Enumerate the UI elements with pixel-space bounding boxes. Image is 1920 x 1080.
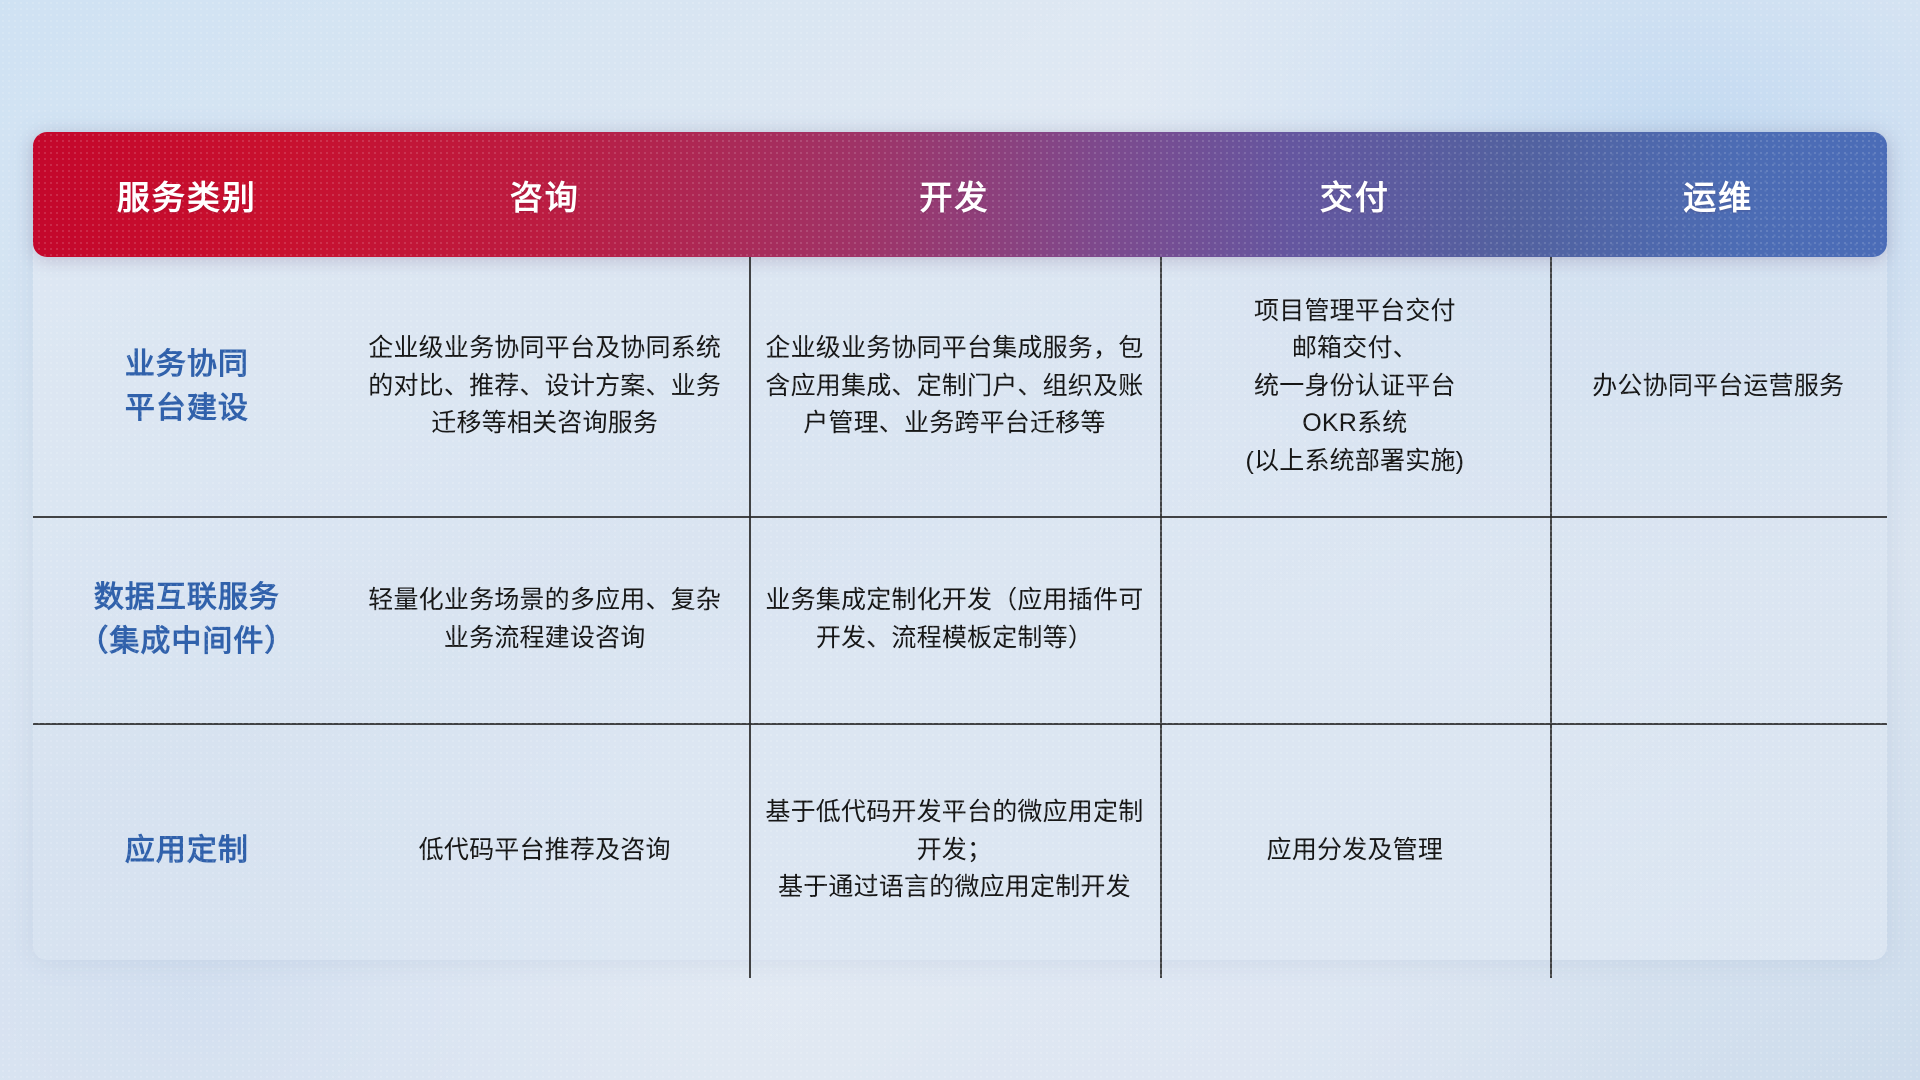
column-header-delivery[interactable]: 交付 — [1160, 132, 1549, 257]
cell-line: 项目管理平台交付 — [1246, 293, 1465, 331]
cell-line: 统一身份认证平台 — [1246, 368, 1465, 406]
row-label-text: 数据互联服务 （集成中间件） — [78, 576, 295, 663]
row-label-text: 业务协同 平台建设 — [125, 343, 249, 430]
cell-consulting: 企业级业务协同平台及协同系统的对比、推荐、设计方案、业务迁移等相关咨询服务 — [341, 257, 749, 516]
row-label-line: 业务协同 — [125, 343, 249, 387]
cell-text: 基于低代码开发平台的微应用定制开发； 基于通过语言的微应用定制开发 — [765, 794, 1145, 907]
cell-text: 企业级业务协同平台集成服务，包含应用集成、定制门户、组织及账户管理、业务跨平台迁… — [765, 330, 1145, 443]
column-header-category[interactable]: 服务类别 — [33, 132, 341, 257]
cell-line: 基于低代码开发平台的微应用定制开发； — [765, 794, 1145, 869]
table-row: 数据互联服务 （集成中间件） 轻量化业务场景的多应用、复杂业务流程建设咨询 业务… — [33, 516, 1887, 723]
cell-consulting: 低代码平台推荐及咨询 — [341, 723, 749, 978]
cell-line: 邮箱交付、 — [1246, 330, 1465, 368]
cell-text: 业务集成定制化开发（应用插件可开发、流程模板定制等） — [765, 582, 1145, 657]
cell-delivery: 应用分发及管理 — [1160, 723, 1549, 978]
row-label-cell: 数据互联服务 （集成中间件） — [33, 516, 341, 723]
row-label-text: 应用定制 — [125, 829, 249, 873]
cell-consulting: 轻量化业务场景的多应用、复杂业务流程建设咨询 — [341, 516, 749, 723]
cell-development: 业务集成定制化开发（应用插件可开发、流程模板定制等） — [749, 516, 1161, 723]
column-header-development[interactable]: 开发 — [749, 132, 1161, 257]
cell-text: 企业级业务协同平台及协同系统的对比、推荐、设计方案、业务迁移等相关咨询服务 — [357, 330, 733, 443]
column-header-consulting[interactable]: 咨询 — [341, 132, 749, 257]
row-label-line: 数据互联服务 — [78, 576, 295, 620]
slide-canvas: 服务类别 咨询 开发 交付 运维 业务协同 平台建设 企业级业务协同平台及协同系… — [0, 0, 1920, 1080]
table-row: 应用定制 低代码平台推荐及咨询 基于低代码开发平台的微应用定制开发； 基于通过语… — [33, 723, 1887, 978]
cell-text: 应用分发及管理 — [1267, 832, 1443, 870]
cell-delivery — [1160, 516, 1549, 723]
cell-operations — [1550, 516, 1887, 723]
cell-text: 低代码平台推荐及咨询 — [419, 832, 671, 870]
row-label-cell: 业务协同 平台建设 — [33, 257, 341, 516]
table-body: 业务协同 平台建设 企业级业务协同平台及协同系统的对比、推荐、设计方案、业务迁移… — [33, 257, 1887, 978]
cell-delivery: 项目管理平台交付 邮箱交付、 统一身份认证平台 OKR系统 (以上系统部署实施) — [1160, 257, 1549, 516]
cell-text: 轻量化业务场景的多应用、复杂业务流程建设咨询 — [357, 582, 733, 657]
row-label-line: （集成中间件） — [78, 620, 295, 664]
service-matrix-table: 服务类别 咨询 开发 交付 运维 业务协同 平台建设 企业级业务协同平台及协同系… — [33, 132, 1887, 978]
cell-operations — [1550, 723, 1887, 978]
cell-line: OKR系统 — [1246, 405, 1465, 443]
table-row: 业务协同 平台建设 企业级业务协同平台及协同系统的对比、推荐、设计方案、业务迁移… — [33, 257, 1887, 516]
cell-development: 基于低代码开发平台的微应用定制开发； 基于通过语言的微应用定制开发 — [749, 723, 1161, 978]
cell-line: 基于通过语言的微应用定制开发 — [765, 869, 1145, 907]
row-label-line: 应用定制 — [125, 829, 249, 873]
cell-operations: 办公协同平台运营服务 — [1550, 257, 1887, 516]
cell-line: (以上系统部署实施) — [1246, 443, 1465, 481]
cell-text: 办公协同平台运营服务 — [1592, 368, 1844, 406]
table-header-row: 服务类别 咨询 开发 交付 运维 — [33, 132, 1887, 257]
row-label-cell: 应用定制 — [33, 723, 341, 978]
cell-development: 企业级业务协同平台集成服务，包含应用集成、定制门户、组织及账户管理、业务跨平台迁… — [749, 257, 1161, 516]
column-header-operations[interactable]: 运维 — [1550, 132, 1887, 257]
row-label-line: 平台建设 — [125, 387, 249, 431]
cell-text: 项目管理平台交付 邮箱交付、 统一身份认证平台 OKR系统 (以上系统部署实施) — [1246, 293, 1465, 481]
